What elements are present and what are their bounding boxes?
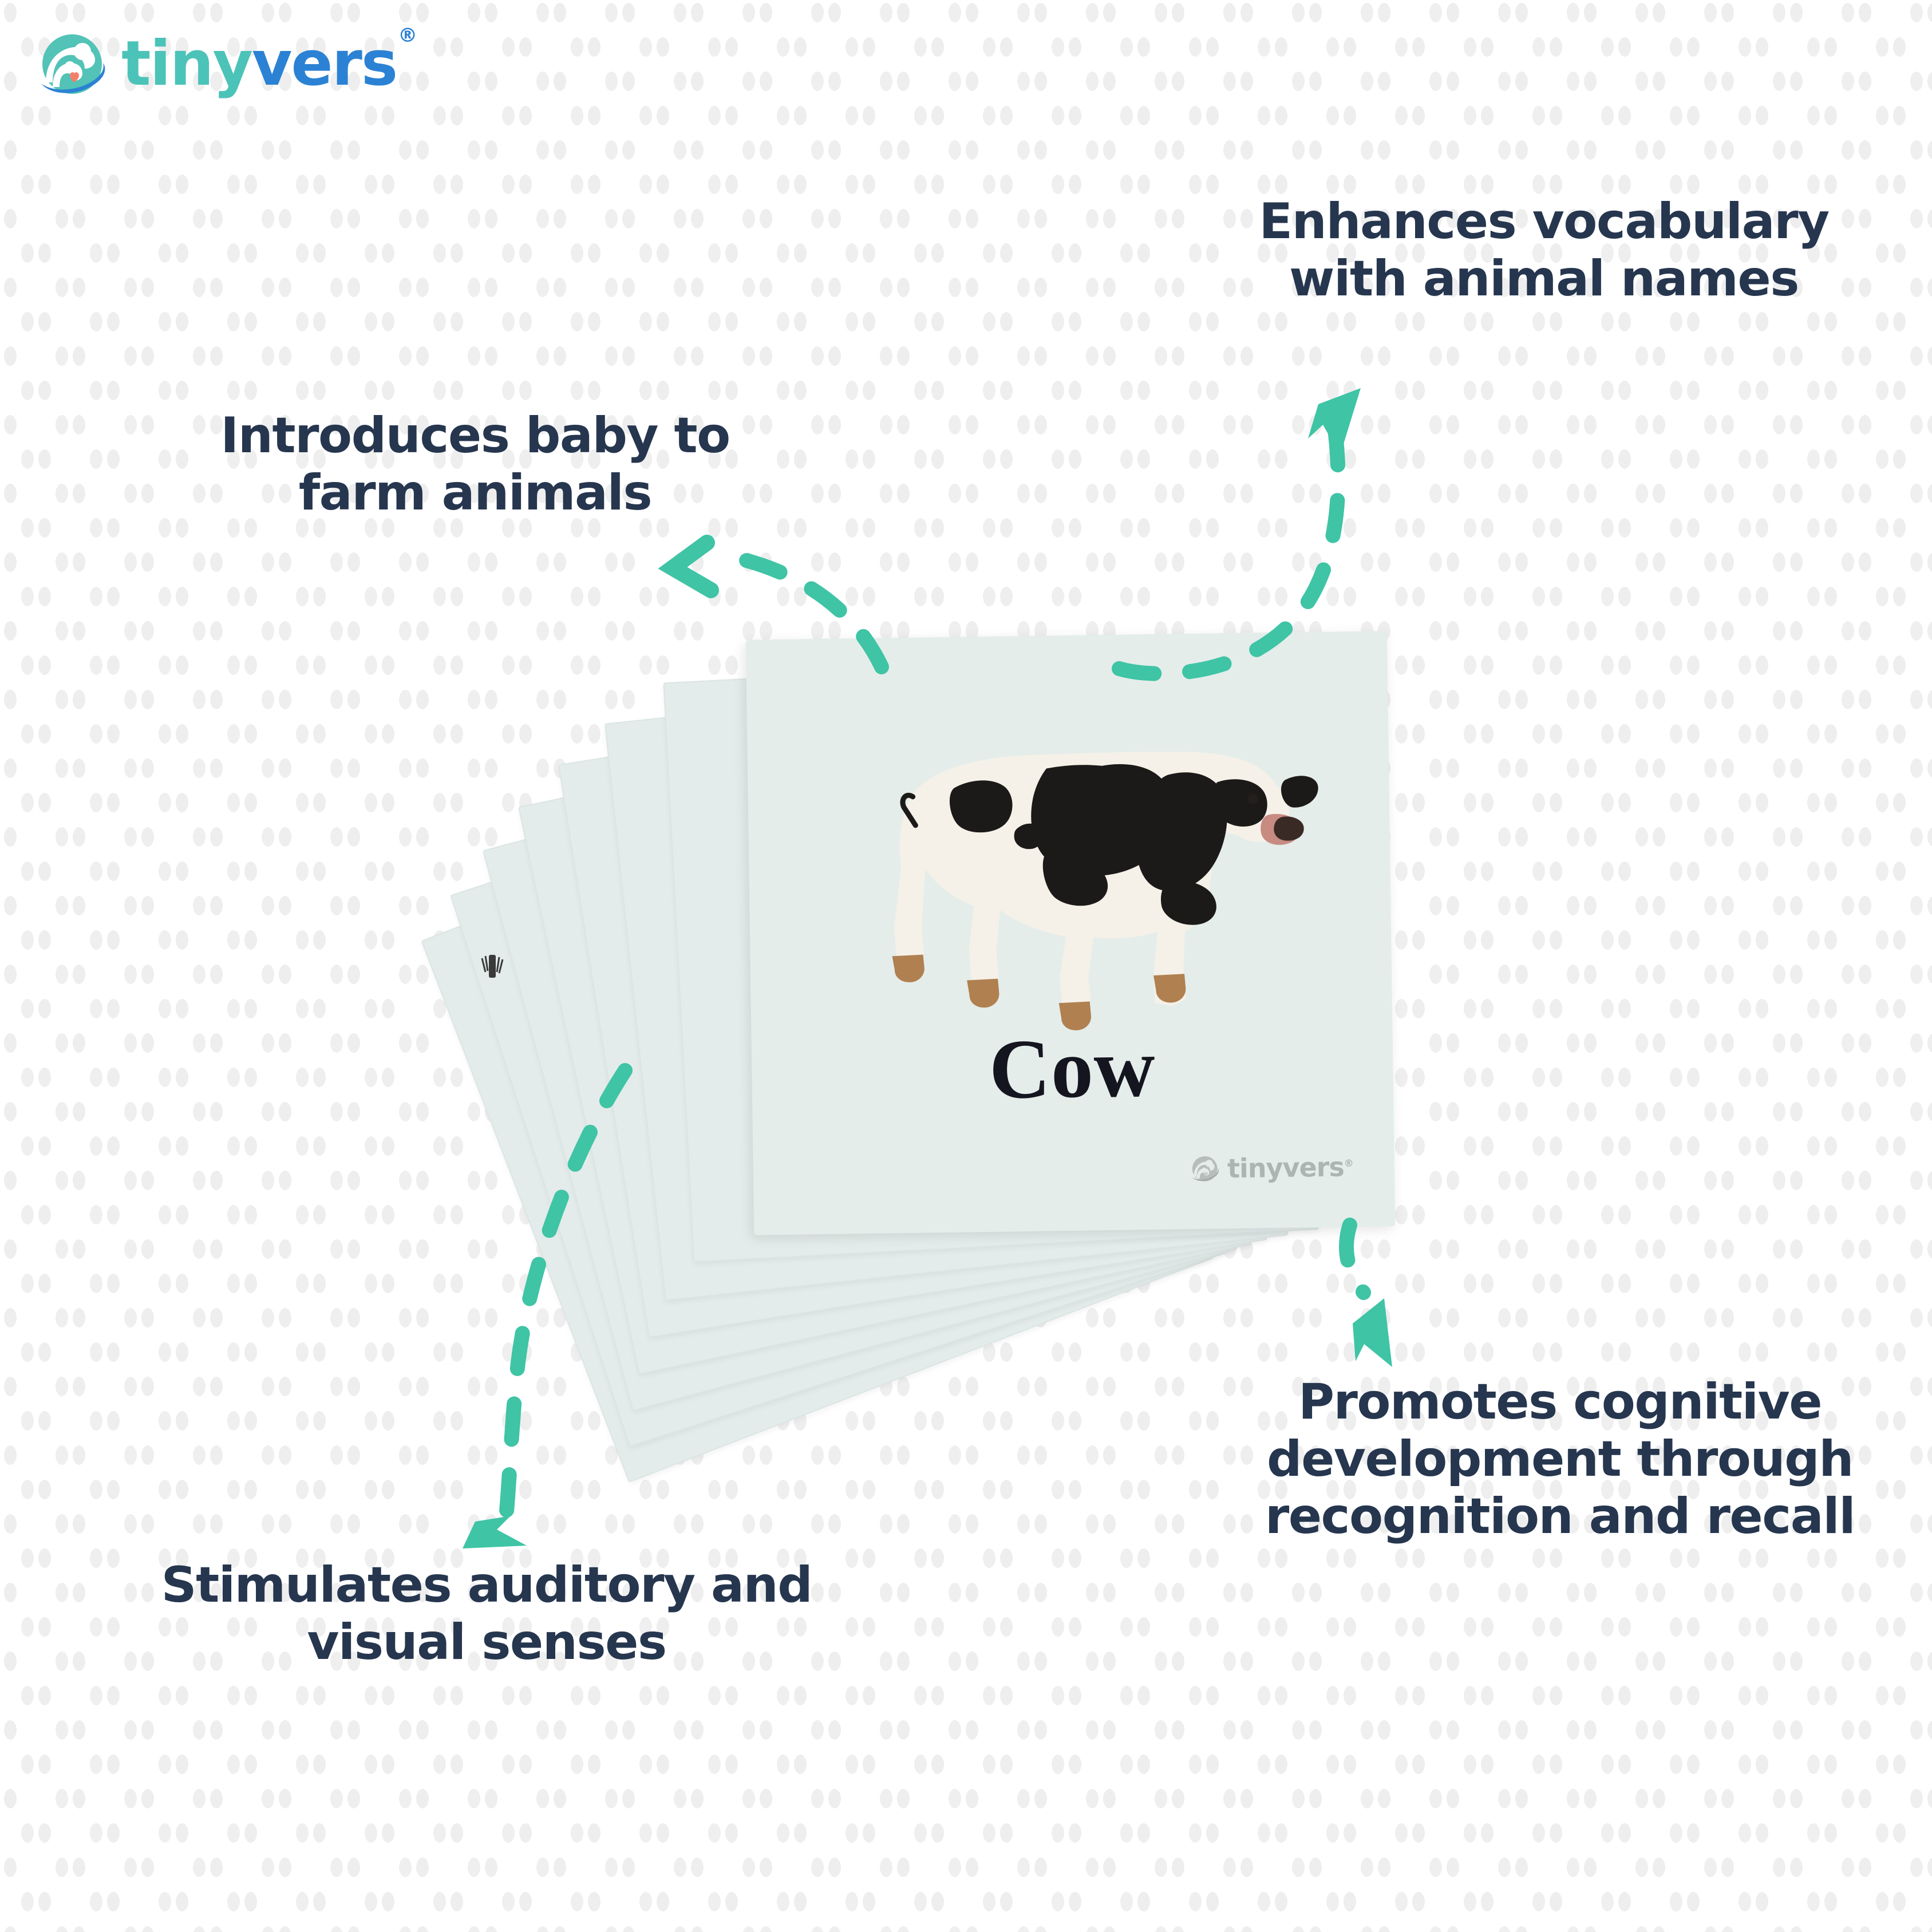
flashcard-stack[interactable]: Cow tinyvers® — [561, 641, 1397, 1259]
cow-photo-icon — [815, 677, 1324, 1038]
tinyvers-watermark-icon — [1190, 1153, 1221, 1184]
callout-promotes-cognitive-development: Promotes cognitive development through r… — [1222, 1374, 1898, 1545]
card-edge-detail-icon — [481, 955, 504, 988]
callout-stimulates-senses: Stimulates auditory and visual senses — [103, 1557, 870, 1672]
callout-introduces-farm-animals: Introduces baby to farm animals — [172, 408, 779, 522]
flashcard-word-label: Cow — [751, 1016, 1393, 1122]
brand-wordmark-tiny: tiny — [121, 28, 252, 100]
brand-wordmark: tinyvers® — [121, 33, 415, 95]
watermark-registered-icon: ® — [1344, 1158, 1353, 1170]
flashcard-front-cow[interactable]: Cow tinyvers® — [746, 631, 1395, 1235]
brand-wordmark-vers: vers — [252, 28, 397, 100]
brand-logo[interactable]: tinyvers® — [35, 27, 415, 101]
tinyvers-logo-icon — [35, 27, 109, 101]
callout-enhances-vocabulary: Enhances vocabulary with animal names — [1206, 193, 1882, 308]
registered-trademark-icon: ® — [398, 24, 416, 47]
watermark-vers: vers — [1282, 1151, 1344, 1183]
flashcard-watermark-wordmark: tinyvers® — [1227, 1151, 1353, 1184]
watermark-tiny: tiny — [1227, 1152, 1283, 1184]
infographic-canvas: tinyvers® — [0, 0, 1932, 1932]
flashcard-brand-watermark: tinyvers® — [1190, 1151, 1353, 1184]
